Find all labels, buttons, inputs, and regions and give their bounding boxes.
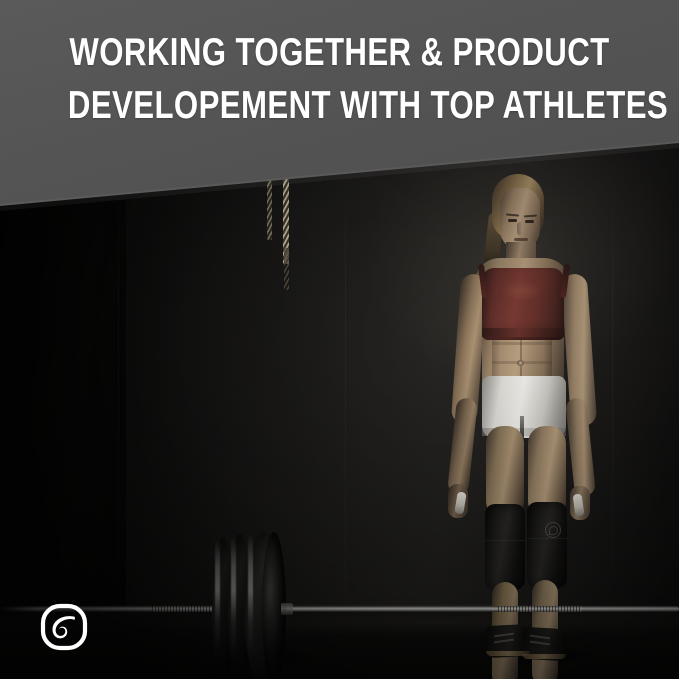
eye: [508, 219, 517, 222]
page-title: WORKING TOGETHER & PRODUCT DEVELOPEMENT …: [68, 26, 611, 132]
nose: [517, 222, 523, 235]
knee-sleeve-logo-icon: [545, 522, 561, 538]
knee-sleeve-seam: [485, 540, 525, 541]
barbell-knurling: [498, 606, 582, 612]
sports-bra-highlight: [492, 278, 548, 304]
climbing-rope: [284, 248, 289, 290]
bumper-plate-rim-highlight: [215, 540, 220, 660]
knee-sleeve-seam: [527, 538, 567, 539]
bumper-plate-rim-highlight: [231, 537, 236, 665]
navel: [517, 360, 524, 366]
barbell-collar: [281, 603, 293, 615]
mouth: [514, 238, 528, 241]
title-line-2: DEVELOPEMENT WITH TOP ATHLETES: [68, 79, 611, 132]
bumper-plate-rim-highlight: [248, 535, 253, 667]
brand-logo: [40, 603, 88, 651]
barbell-knurling: [152, 606, 216, 612]
sports-bra-band: [482, 328, 564, 337]
knee-sleeve-left: [485, 504, 525, 590]
wall-seam: [345, 150, 346, 620]
climbing-rope: [267, 178, 272, 240]
wall-panel-left: [0, 200, 126, 620]
athlete-figure: [430, 170, 640, 679]
eye: [525, 220, 534, 223]
shoe-sole-right: [522, 654, 566, 659]
banner-canvas: WORKING TOGETHER & PRODUCT DEVELOPEMENT …: [0, 0, 679, 679]
barbell-end-fade: [0, 602, 38, 616]
rehband-wave-logo-icon: [40, 603, 88, 651]
wall-seam: [118, 150, 119, 620]
knee-sleeve-right: [527, 502, 567, 588]
title-line-1: WORKING TOGETHER & PRODUCT: [68, 26, 611, 79]
